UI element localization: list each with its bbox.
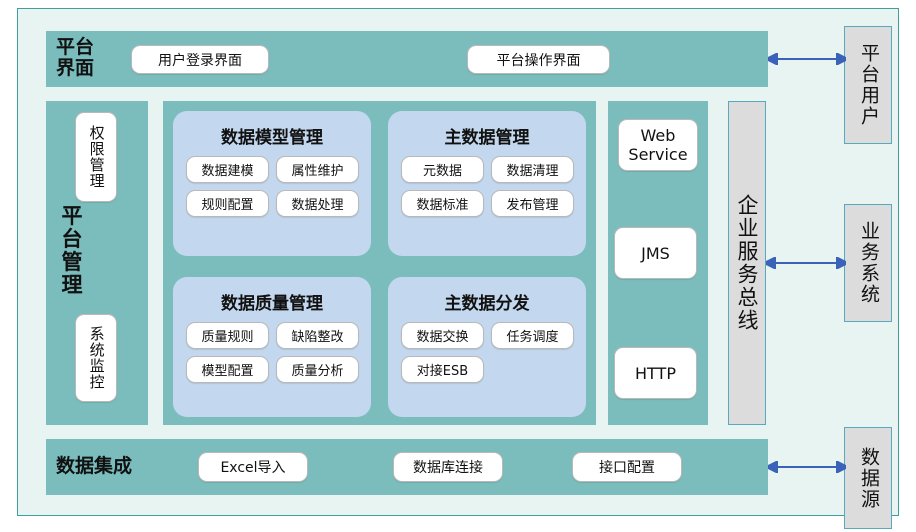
actor-label: 业务系统 <box>858 221 878 305</box>
pill-data-exchange[interactable]: 数据交换 <box>401 322 484 349</box>
pill-platform-operation-ui[interactable]: 平台操作界面 <box>467 45 610 74</box>
actor-label: 数据源 <box>858 447 878 510</box>
pill-data-cleansing[interactable]: 数据清理 <box>491 156 574 183</box>
actor-platform-users: 平台用户 <box>844 26 892 144</box>
module-title: 数据模型管理 <box>173 123 371 148</box>
esb-label: 企业服务总线 <box>736 194 758 332</box>
pill-attribute-maintenance[interactable]: 属性维护 <box>276 156 359 183</box>
data-integration-title: 数据集成 <box>56 456 166 477</box>
pill-defect-rectification[interactable]: 缺陷整改 <box>276 322 359 349</box>
pill-model-configuration[interactable]: 模型配置 <box>186 356 269 383</box>
arrow-esb-to-business-systems <box>766 257 846 269</box>
module-title: 主数据管理 <box>388 123 586 148</box>
module-master-data-management: 主数据管理 元数据 数据清理 数据标准 发布管理 <box>388 111 586 256</box>
pill-data-processing[interactable]: 数据处理 <box>276 190 359 217</box>
platform-interface-title: 平台 界面 <box>56 37 116 80</box>
pill-excel-import[interactable]: Excel导入 <box>198 452 308 482</box>
pill-quality-analysis[interactable]: 质量分析 <box>276 356 359 383</box>
enterprise-service-bus: 企业服务总线 <box>728 101 766 425</box>
pill-data-standard[interactable]: 数据标准 <box>401 190 484 217</box>
pill-web-service[interactable]: Web Service <box>618 119 698 171</box>
pill-user-login-ui[interactable]: 用户登录界面 <box>131 45 269 74</box>
module-data-model-management: 数据模型管理 数据建模 属性维护 规则配置 数据处理 <box>173 111 371 256</box>
actor-data-source: 数据源 <box>844 427 892 529</box>
pill-task-scheduling[interactable]: 任务调度 <box>491 322 574 349</box>
arrow-platform-interface-to-users <box>768 53 846 65</box>
module-title: 数据质量管理 <box>173 289 371 314</box>
pill-system-monitoring[interactable]: 系统监控 <box>75 314 117 402</box>
pill-quality-rule[interactable]: 质量规则 <box>186 322 269 349</box>
pill-jms[interactable]: JMS <box>614 227 697 279</box>
pill-data-modeling[interactable]: 数据建模 <box>186 156 269 183</box>
module-title: 主数据分发 <box>388 289 586 314</box>
pill-esb-integration[interactable]: 对接ESB <box>401 356 484 383</box>
pill-rule-configuration[interactable]: 规则配置 <box>186 190 269 217</box>
pill-database-connection[interactable]: 数据库连接 <box>393 452 503 482</box>
module-master-data-distribution: 主数据分发 数据交换 任务调度 对接ESB <box>388 277 586 417</box>
pill-metadata[interactable]: 元数据 <box>401 156 484 183</box>
actor-label: 平台用户 <box>858 43 878 127</box>
pill-permission-management[interactable]: 权限管理 <box>75 112 117 202</box>
platform-management-title: 平台 管理 <box>52 205 92 297</box>
pill-publish-management[interactable]: 发布管理 <box>491 190 574 217</box>
pill-http[interactable]: HTTP <box>614 347 697 399</box>
pill-interface-configuration[interactable]: 接口配置 <box>572 452 682 482</box>
arrow-data-integration-to-data-source <box>768 461 846 473</box>
module-data-quality-management: 数据质量管理 质量规则 缺陷整改 模型配置 质量分析 <box>173 277 371 417</box>
actor-business-systems: 业务系统 <box>844 204 892 322</box>
architecture-diagram-canvas: 平台 界面 用户登录界面 平台操作界面 权限管理 平台 管理 系统监控 数据模型… <box>17 8 899 516</box>
